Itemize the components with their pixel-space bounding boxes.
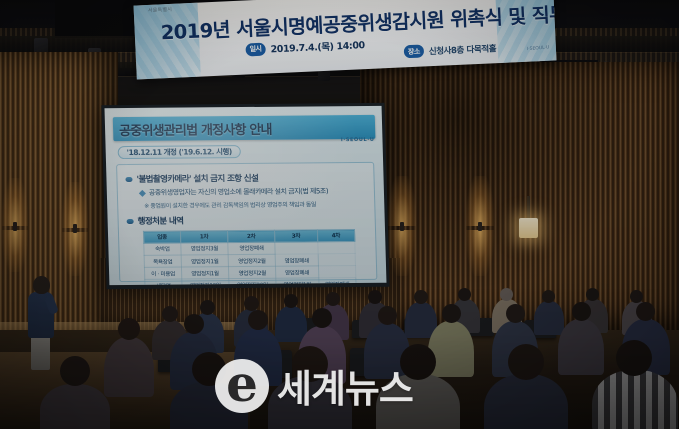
slide-bullet-1-text: '불법촬영카메라' 설치 금지 조항 신설 (136, 172, 258, 185)
audience-head (368, 290, 382, 304)
audience-member (484, 374, 568, 429)
bullet-dot-icon (125, 176, 132, 181)
slide-body-box: '불법촬영카메라' 설치 금지 조항 신설 공중위생영업자는 자신의 영업소에 … (116, 162, 377, 282)
banner-venue-line: 장소 신청사8층 다목적홀 (404, 41, 497, 58)
audience-head (184, 314, 204, 334)
audience-head (312, 308, 332, 328)
cell-first: 영업정지10일 (182, 279, 230, 285)
audience-member (170, 382, 248, 429)
penalty-col-fourth: 4차 (317, 230, 355, 242)
audience-head (630, 290, 643, 303)
cell-fourth (317, 241, 355, 254)
presenter-legs (31, 334, 50, 370)
slide-iseoulu-logo: I·SEOUL·U (341, 137, 375, 143)
audience-member (40, 384, 110, 429)
audience-head (542, 290, 555, 303)
slide-bullet-3-text: ※ 종업원이 설치한 경우에도 관리 감독책임의 법리상 영업주의 책임과 동일 (144, 199, 316, 209)
penalty-table: 업종 1차 2차 3차 4차 숙박업 영업정지3월 영업장폐쇄 (143, 229, 357, 285)
cell-third: 영업장폐쇄 (276, 266, 319, 279)
audience-member (534, 301, 564, 335)
penalty-col-first: 1차 (180, 231, 227, 243)
audience-head (400, 344, 436, 380)
cell-business: 숙박업 (144, 243, 181, 256)
slide-title: 공중위생관리법 개정사항 안내 (119, 119, 272, 139)
cell-first: 영업정지1월 (181, 255, 229, 268)
bullet-dot-icon (127, 218, 134, 223)
audience-head (378, 306, 397, 325)
audience-member (428, 321, 474, 377)
cell-first: 영업정지3월 (181, 242, 229, 255)
cell-business: 목욕장업 (144, 255, 181, 268)
slide-date-text: '18.12.11 개정 ('19.6.12. 시행) (127, 146, 232, 158)
audience-member (376, 374, 460, 429)
banner-corp-mark: 서울특별시 (148, 6, 173, 14)
cell-fourth (318, 266, 356, 279)
wall-sconce (73, 224, 77, 233)
banner-when-label: 일시 (245, 42, 265, 56)
cell-business: 세탁업 (145, 279, 182, 285)
cell-fourth (318, 254, 356, 267)
cell-second: 영업장폐쇄 (228, 242, 276, 255)
audience-head (248, 310, 268, 330)
audience-head (572, 302, 591, 321)
table-row: 세탁업 영업정지10일 영업정지20일 영업정지1월 영업장폐쇄 (145, 278, 356, 285)
wall-sconce (13, 222, 17, 231)
penalty-col-second: 2차 (227, 230, 274, 242)
cell-third: 영업정지1월 (276, 278, 319, 285)
slide-bullet-3: ※ 종업원이 설치한 경우에도 관리 감독책임의 법리상 영업주의 책임과 동일 (144, 199, 316, 209)
audience-head (500, 288, 513, 301)
projection-screen: 공중위생관리법 개정사항 안내 I·SEOUL·U '18.12.11 개정 (… (104, 106, 386, 285)
wall-lamp-box (519, 218, 538, 238)
penalty-col-business: 업종 (143, 231, 180, 243)
audience-head (616, 340, 652, 376)
audience-head (118, 318, 140, 340)
cell-third (275, 242, 318, 255)
cell-second: 영업정지2월 (228, 254, 276, 267)
audience-head (162, 306, 178, 322)
audience-member (268, 376, 352, 429)
banner-where-label: 장소 (404, 44, 424, 58)
audience-head (506, 304, 525, 323)
cell-second: 영업정지2월 (229, 266, 277, 279)
wall-sconce (400, 222, 404, 231)
audience-head (60, 356, 90, 386)
audience-head (284, 294, 298, 308)
cell-first: 영업정지1월 (181, 267, 229, 280)
slide-date-chip: '18.12.11 개정 ('19.6.12. 시행) (118, 145, 241, 159)
cell-business: 이 · 미용업 (144, 267, 181, 280)
audience-member (104, 337, 154, 397)
audience-member (592, 370, 678, 429)
audience-head (442, 304, 461, 323)
audience-head (636, 302, 655, 321)
cell-third: 영업장폐쇄 (275, 254, 318, 267)
audience-head (586, 288, 599, 301)
audience-head (458, 288, 471, 301)
audience-head (414, 290, 428, 304)
banner-where-value: 신청사8층 다목적홀 (429, 42, 497, 57)
audience-head (508, 344, 544, 380)
slide-bullet-2: 공중위생영업자는 자신의 영업소에 몰래카메라 설치 금지(법 제5조) (140, 186, 328, 198)
wall-wood-slats-right (360, 62, 679, 330)
audience-head (244, 296, 259, 311)
audience-head (326, 292, 340, 306)
wall-sconce (478, 222, 482, 231)
audience-head (200, 300, 215, 315)
audience-head (292, 346, 328, 382)
penalty-col-third: 3차 (275, 230, 318, 242)
slide-bullet-2-text: 공중위생영업자는 자신의 영업소에 몰래카메라 설치 금지(법 제5조) (149, 186, 328, 198)
slide-bullet-1: '불법촬영카메라' 설치 금지 조항 신설 (125, 172, 258, 185)
slide-bullet-4: 행정처분 내역 (126, 215, 183, 227)
sconce-stem (527, 196, 530, 218)
presenter-head (33, 276, 50, 294)
projection-screen-frame: 공중위생관리법 개정사항 안내 I·SEOUL·U '18.12.11 개정 (… (101, 103, 389, 289)
photograph-scene: 서울특별시 2019년 서울시명예공중위생감시원 위촉식 및 직무교육 일시 2… (0, 0, 679, 429)
audience-head (192, 352, 226, 386)
banner-when-value: 2019.7.4.(목) 14:00 (270, 37, 365, 55)
slide-bullet-4-text: 행정처분 내역 (137, 215, 183, 227)
audience-member (558, 319, 604, 375)
bullet-diamond-icon (139, 189, 146, 196)
cell-fourth: 영업장폐쇄 (318, 278, 356, 285)
audience-member (234, 328, 282, 386)
cell-second: 영업정지20일 (229, 279, 277, 286)
